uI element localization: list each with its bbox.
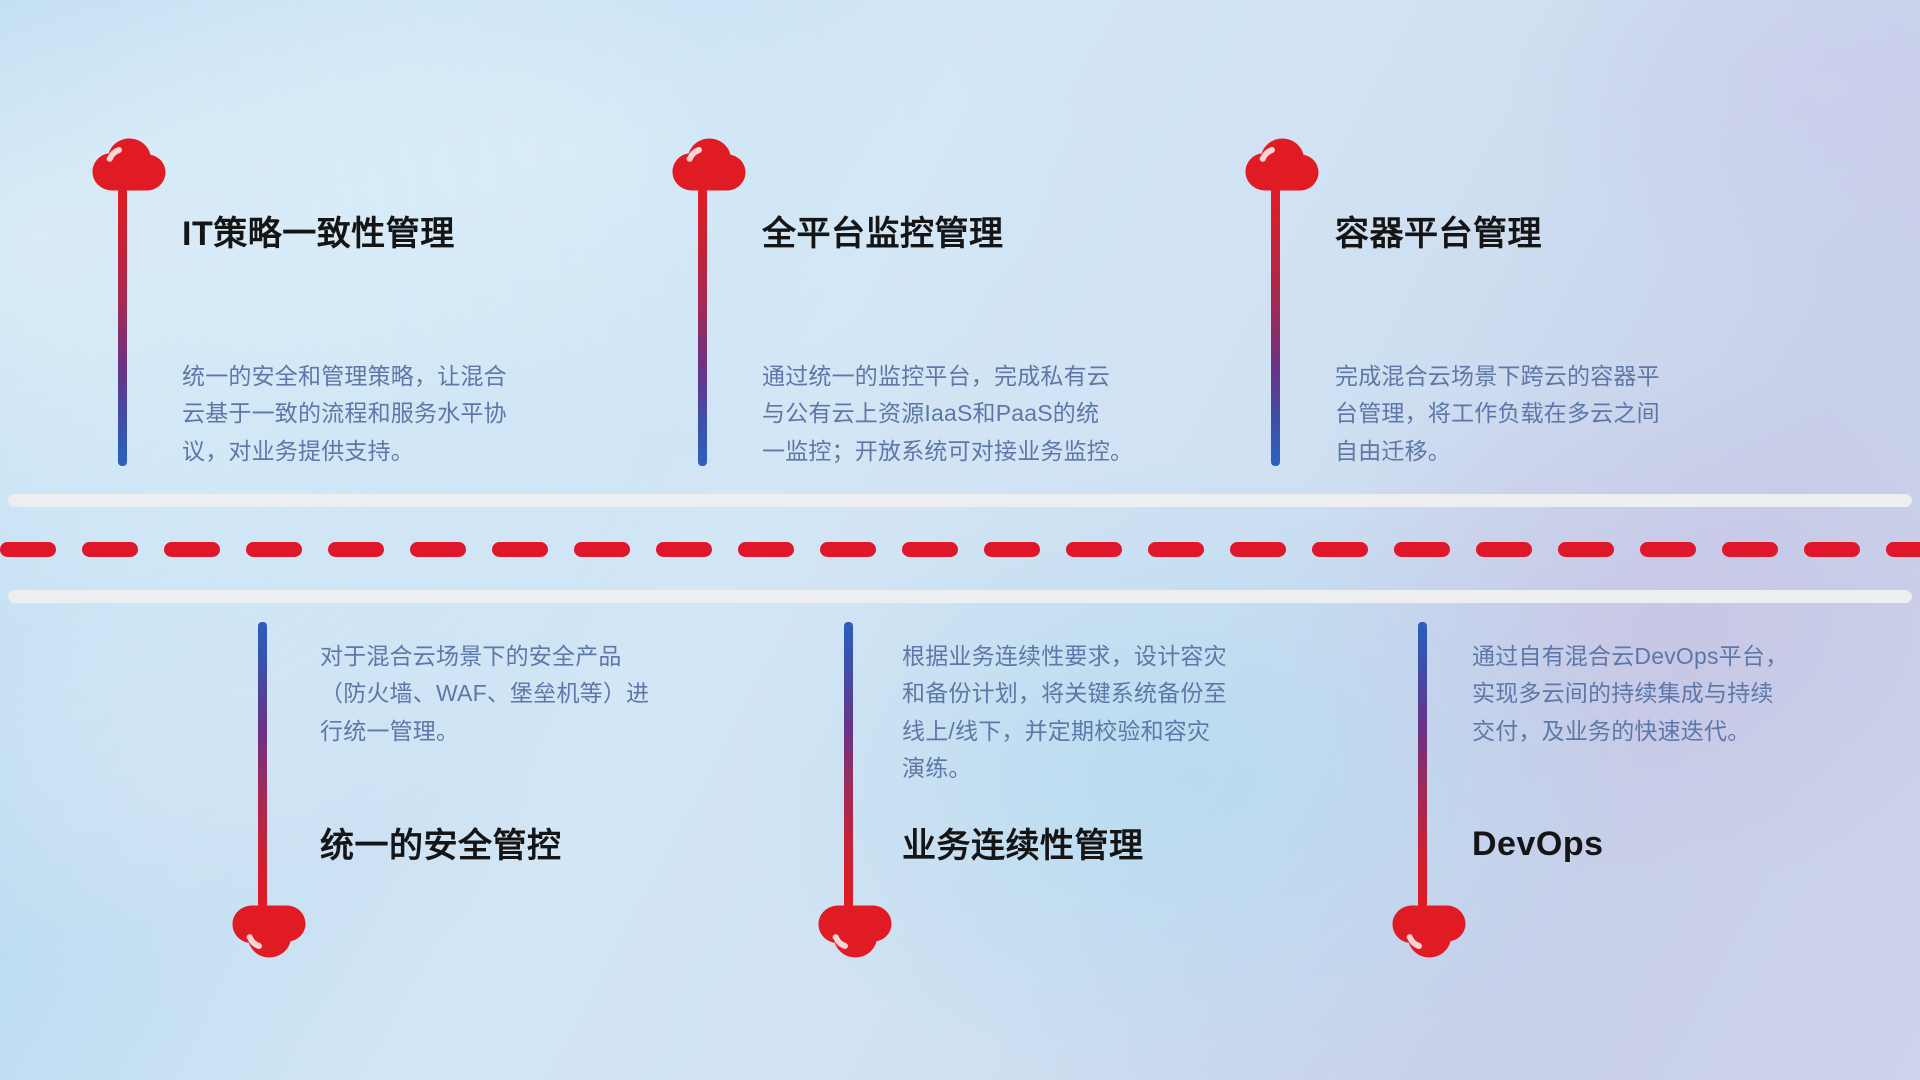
node-body-line: 根据业务连续性要求，设计容灾 <box>902 638 1227 675</box>
connector-line-container-platform-management <box>1271 188 1280 466</box>
divider-dash-gap <box>1614 549 1640 550</box>
divider-dash <box>902 542 958 557</box>
divider-dash-gap <box>220 549 246 550</box>
divider-dash-gap <box>1122 549 1148 550</box>
divider-dash-gap <box>630 549 656 550</box>
cloud-icon <box>1245 138 1319 192</box>
node-body-line: 通过自有混合云DevOps平台， <box>1472 638 1788 675</box>
infographic-canvas: IT策略一致性管理统一的安全和管理策略，让混合云基于一致的流程和服务水平协议，对… <box>0 0 1920 1080</box>
divider-dash-gap <box>56 549 82 550</box>
divider-dash-gap <box>712 549 738 550</box>
node-body-line: 通过统一的监控平台，完成私有云 <box>762 358 1133 395</box>
connector-line-unified-security-control <box>258 622 267 908</box>
divider-dash <box>984 542 1040 557</box>
divider-dash-gap <box>1450 549 1476 550</box>
divider-dash-gap <box>1040 549 1066 550</box>
node-body-line: 行统一管理。 <box>320 713 649 750</box>
cloud-icon <box>232 904 306 958</box>
divider-rail-top <box>8 494 1912 507</box>
node-title-container-platform-management: 容器平台管理 <box>1335 214 1542 255</box>
connector-line-business-continuity-management <box>844 622 853 908</box>
cloud-icon <box>818 904 892 958</box>
connector-line-full-platform-monitoring <box>698 188 707 466</box>
node-body-line: 统一的安全和管理策略，让混合 <box>182 358 507 395</box>
node-body-it-policy-consistency: 统一的安全和管理策略，让混合云基于一致的流程和服务水平协议，对业务提供支持。 <box>182 358 507 470</box>
divider-rail-bottom <box>8 590 1912 603</box>
cloud-icon <box>92 138 166 192</box>
node-body-line: 与公有云上资源IaaS和PaaS的统 <box>762 395 1133 432</box>
node-body-line: 对于混合云场景下的安全产品 <box>320 638 649 675</box>
node-body-full-platform-monitoring: 通过统一的监控平台，完成私有云与公有云上资源IaaS和PaaS的统一监控；开放系… <box>762 358 1133 470</box>
divider-dash-gap <box>1204 549 1230 550</box>
connector-line-devops <box>1418 622 1427 908</box>
node-body-line: 云基于一致的流程和服务水平协 <box>182 395 507 432</box>
divider-dash <box>328 542 384 557</box>
divider-dash <box>1312 542 1368 557</box>
divider-dash <box>82 542 138 557</box>
divider-dash <box>164 542 220 557</box>
node-body-line: 交付，及业务的快速迭代。 <box>1472 713 1788 750</box>
divider-dash <box>574 542 630 557</box>
divider-dash <box>1804 542 1860 557</box>
divider-dash-gap <box>1778 549 1804 550</box>
divider-dash <box>246 542 302 557</box>
node-title-unified-security-control: 统一的安全管控 <box>320 826 562 867</box>
node-body-line: 台管理，将工作负载在多云之间 <box>1335 395 1660 432</box>
divider-dash-gap <box>958 549 984 550</box>
cloud-icon <box>1392 904 1466 958</box>
node-body-line: 完成混合云场景下跨云的容器平 <box>1335 358 1660 395</box>
divider-dash <box>1148 542 1204 557</box>
node-title-full-platform-monitoring: 全平台监控管理 <box>762 214 1004 255</box>
node-body-line: 演练。 <box>902 750 1227 787</box>
divider-dash <box>410 542 466 557</box>
divider-dash <box>1066 542 1122 557</box>
divider-dash-gap <box>548 549 574 550</box>
node-body-business-continuity-management: 根据业务连续性要求，设计容灾和备份计划，将关键系统备份至线上/线下，并定期校验和… <box>902 638 1227 787</box>
node-body-line: 线上/线下，并定期校验和容灾 <box>902 713 1227 750</box>
divider-dash <box>1230 542 1286 557</box>
cloud-icon <box>672 138 746 192</box>
node-body-line: 实现多云间的持续集成与持续 <box>1472 675 1788 712</box>
node-title-it-policy-consistency: IT策略一致性管理 <box>182 214 455 255</box>
divider-dash <box>492 542 548 557</box>
divider-dash <box>1886 542 1920 557</box>
connector-line-it-policy-consistency <box>118 188 127 466</box>
node-body-container-platform-management: 完成混合云场景下跨云的容器平台管理，将工作负载在多云之间自由迁移。 <box>1335 358 1660 470</box>
divider-dash-gap <box>876 549 902 550</box>
divider-dash-gap <box>1286 549 1312 550</box>
divider-dash-gap <box>302 549 328 550</box>
divider-dash-gap <box>466 549 492 550</box>
divider-dash <box>820 542 876 557</box>
divider-dash-gap <box>794 549 820 550</box>
node-body-line: 和备份计划，将关键系统备份至 <box>902 675 1227 712</box>
divider-dash-gap <box>1860 549 1886 550</box>
divider-dash-gap <box>1532 549 1558 550</box>
divider-dash <box>0 542 56 557</box>
divider-dash <box>1394 542 1450 557</box>
node-title-devops: DevOps <box>1472 824 1604 865</box>
node-body-line: 自由迁移。 <box>1335 433 1660 470</box>
divider-dash <box>1558 542 1614 557</box>
divider-dash-gap <box>138 549 164 550</box>
node-body-unified-security-control: 对于混合云场景下的安全产品（防火墙、WAF、堡垒机等）进行统一管理。 <box>320 638 649 750</box>
divider-dash <box>1722 542 1778 557</box>
divider-dash <box>738 542 794 557</box>
divider-dash <box>1476 542 1532 557</box>
divider-dash-gap <box>384 549 410 550</box>
divider-dash <box>1640 542 1696 557</box>
node-body-devops: 通过自有混合云DevOps平台，实现多云间的持续集成与持续交付，及业务的快速迭代… <box>1472 638 1788 750</box>
divider-dash-gap <box>1368 549 1394 550</box>
node-body-line: （防火墙、WAF、堡垒机等）进 <box>320 675 649 712</box>
node-title-business-continuity-management: 业务连续性管理 <box>902 826 1144 867</box>
divider-dashed-line <box>0 542 1920 557</box>
divider-dash-gap <box>1696 549 1722 550</box>
node-body-line: 议，对业务提供支持。 <box>182 433 507 470</box>
node-body-line: 一监控；开放系统可对接业务监控。 <box>762 433 1133 470</box>
divider-dash <box>656 542 712 557</box>
